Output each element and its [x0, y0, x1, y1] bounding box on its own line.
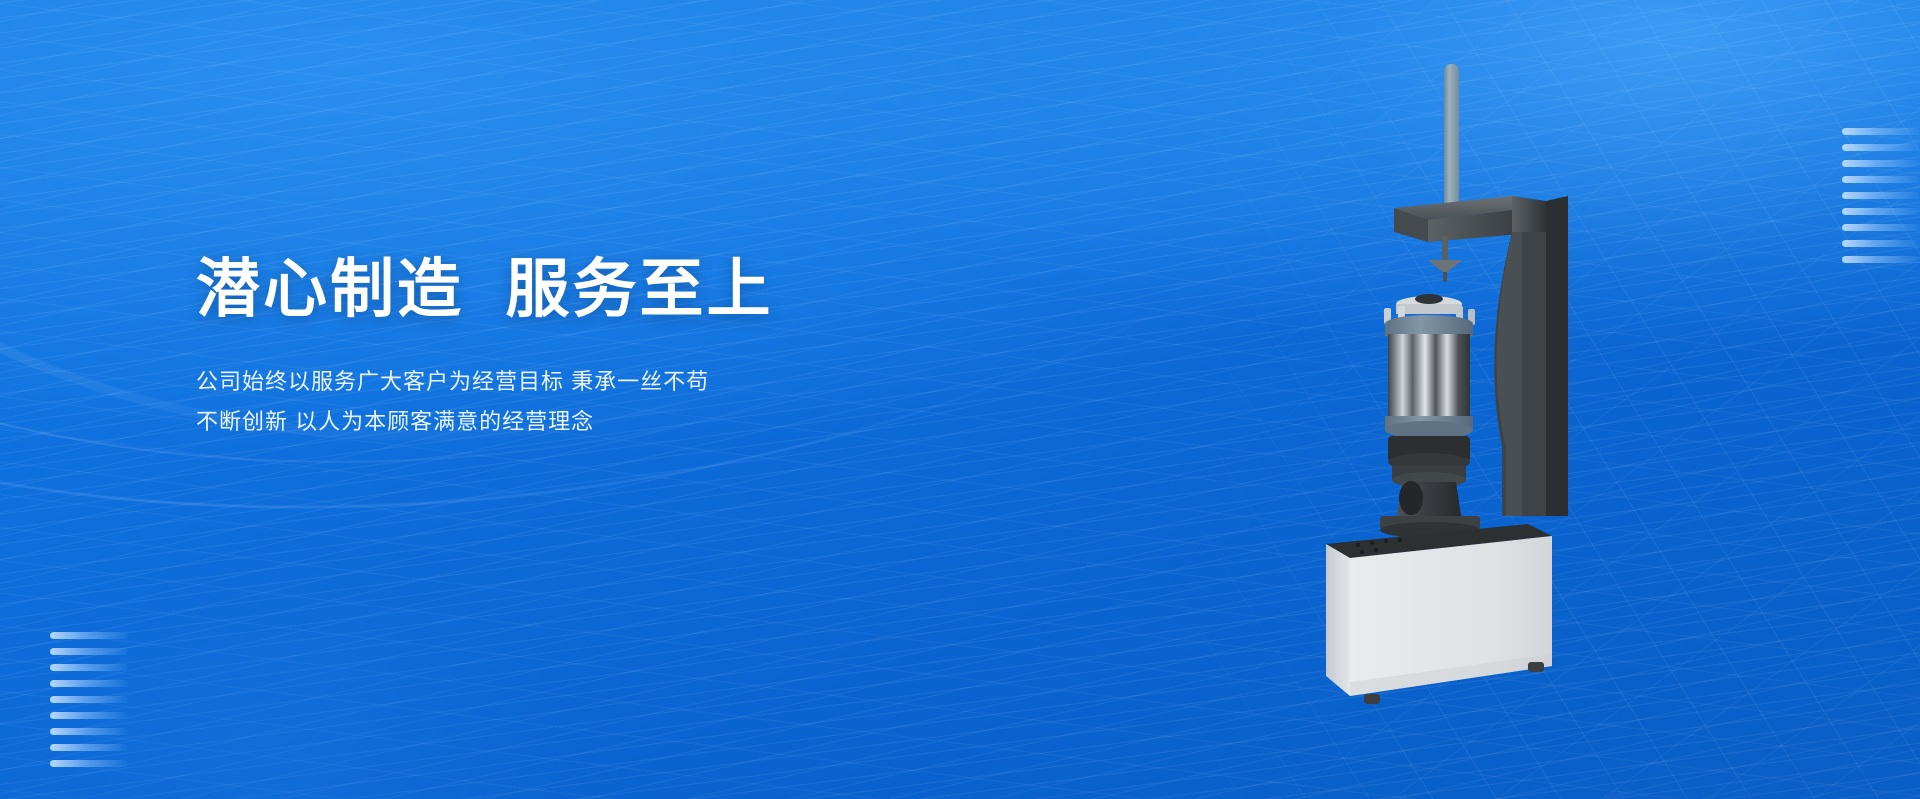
decorative-bar: [50, 680, 128, 687]
decorative-bar: [1842, 144, 1920, 151]
base-column: [1380, 481, 1480, 538]
vertical-guide-rod: [1444, 64, 1459, 214]
decorative-bars-right: [1800, 128, 1920, 263]
decorative-bar: [50, 632, 128, 639]
decorative-bar: [50, 744, 128, 751]
product-machine-illustration: [1316, 46, 1656, 706]
hero-subtitle-line-1: 公司始终以服务广大客户为经营目标 秉承一丝不苟: [196, 362, 1016, 402]
decorative-bar: [1842, 224, 1920, 231]
decorative-bar: [1842, 176, 1920, 183]
decorative-bar: [50, 696, 128, 703]
tool-head: [1428, 236, 1462, 282]
hero-subtitle-line-2: 不断创新 以人为本顾客满意的经营理念: [196, 402, 1016, 442]
decorative-bar: [50, 760, 128, 767]
cabinet-body: [1326, 524, 1552, 696]
decorative-bar: [1842, 240, 1920, 247]
cylindrical-fixture: [1384, 294, 1475, 488]
decorative-bar: [50, 712, 128, 719]
hero-copy-block: 潜心制造 服务至上 公司始终以服务广大客户为经营目标 秉承一丝不苟 不断创新 以…: [196, 252, 1016, 442]
background-glow-bottom-left: [0, 479, 720, 799]
decorative-bar: [50, 648, 128, 655]
decorative-bar: [1842, 160, 1920, 167]
decorative-bar: [1842, 128, 1920, 135]
decorative-bar: [50, 728, 128, 735]
hero-banner: 潜心制造 服务至上 公司始终以服务广大客户为经营目标 秉承一丝不苟 不断创新 以…: [0, 0, 1920, 799]
hero-subtitle: 公司始终以服务广大客户为经营目标 秉承一丝不苟 不断创新 以人为本顾客满意的经营…: [196, 328, 1016, 442]
decorative-bar: [1842, 192, 1920, 199]
decorative-bar: [1842, 208, 1920, 215]
hero-headline: 潜心制造 服务至上: [196, 252, 1016, 328]
decorative-bar: [1842, 256, 1920, 263]
decorative-bars-left: [0, 632, 120, 767]
decorative-bar: [50, 664, 128, 671]
